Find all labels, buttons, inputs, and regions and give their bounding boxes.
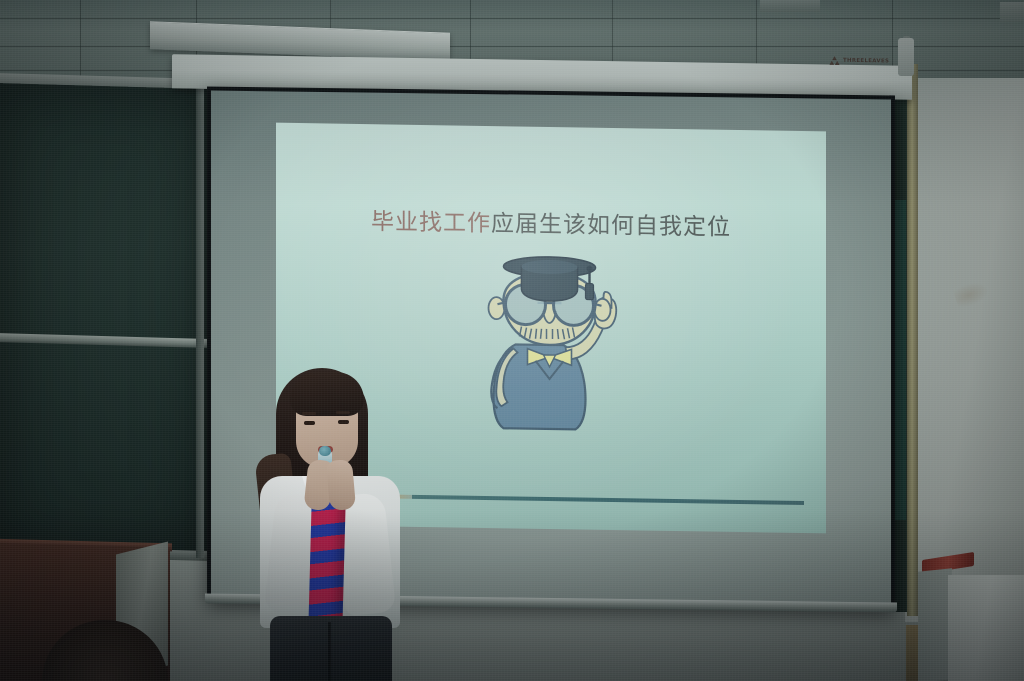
cabinet-side-panel [918,568,952,681]
presenter-trousers [270,616,392,681]
classroom-cabinet [948,575,1024,681]
chalkboard-right-frame [907,64,918,616]
presenter-hand-right [326,459,356,511]
wall-right-panel [905,62,1024,622]
chalkboard-left-frame [196,84,204,558]
screen-brand-plate: THREELEAVES [829,56,889,67]
ceiling-vent [760,0,820,12]
chalkboard-left [0,83,208,559]
ceiling-vent-corner [1000,2,1024,22]
presenter-eye-right [338,420,349,424]
screen-brand-text: THREELEAVES [843,58,889,65]
microphone-head-icon [319,446,331,456]
slide-title-rest: 应届生该如何自我定位 [491,211,731,241]
graduate-professor-mascot-icon [464,248,639,441]
slide-title-highlight: 毕业找工作 [371,209,491,237]
student-presenter [248,364,408,681]
presenter-trouser-seam [328,622,331,681]
slide-title: 毕业找工作应届生该如何自我定位 [276,201,826,244]
presenter-eyebrow-left [302,412,316,415]
slide-divider-right-segment [412,495,804,505]
presenter-eye-left [304,421,315,425]
screen-housing-end-cap [898,38,914,76]
presenter-hair-front [290,372,364,416]
classroom-scene: THREELEAVES 毕业找工作应届生该如何自我定位 [0,0,1024,681]
three-diamond-logo-icon [829,56,840,66]
presenter-eyebrow-right [336,411,350,414]
